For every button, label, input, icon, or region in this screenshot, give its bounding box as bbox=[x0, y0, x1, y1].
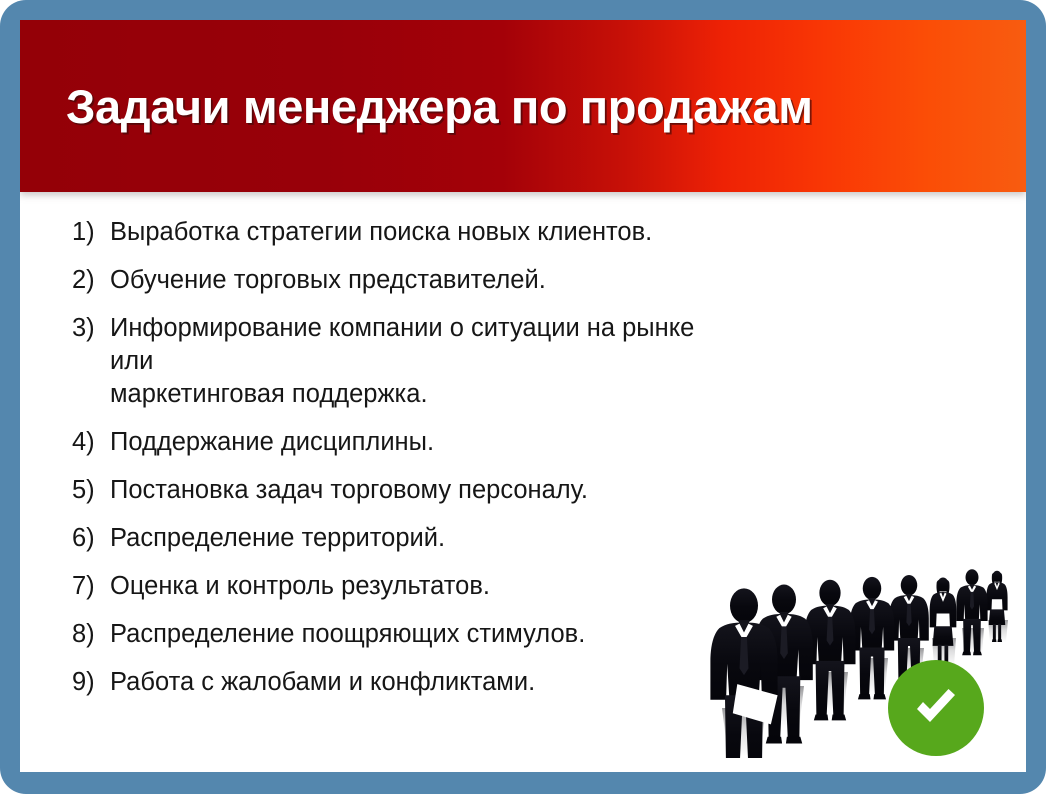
list-item-number: 2) bbox=[72, 264, 110, 297]
slide-card: Задачи менеджера по продажам 1) Выработк… bbox=[20, 20, 1026, 772]
list-item-label: Постановка задач торговому персоналу. bbox=[110, 474, 700, 507]
list-item-number: 5) bbox=[72, 474, 110, 507]
list-item-label-line1: Информирование компании о ситуации на ры… bbox=[110, 312, 700, 378]
slide-frame: Задачи менеджера по продажам 1) Выработк… bbox=[0, 0, 1046, 794]
list-item-number: 1) bbox=[72, 216, 110, 249]
list-item-label: Распределение территорий. bbox=[110, 522, 700, 555]
list-item-number: 7) bbox=[72, 570, 110, 603]
list-item-label: Обучение торговых представителей. bbox=[110, 264, 700, 297]
list-item: 4) Поддержание дисциплины. bbox=[72, 426, 700, 459]
task-list: 1) Выработка стратегии поиска новых клие… bbox=[20, 216, 700, 714]
page-title: Задачи менеджера по продажам bbox=[66, 20, 1006, 192]
list-item: 3) Информирование компании о ситуации на… bbox=[72, 312, 700, 411]
list-item-label: Информирование компании о ситуации на ры… bbox=[110, 312, 700, 411]
list-item: 9) Работа с жалобами и конфликтами. bbox=[72, 666, 700, 699]
check-mark-icon bbox=[905, 677, 967, 739]
list-item-number: 9) bbox=[72, 666, 110, 699]
list-item: 2) Обучение торговых представителей. bbox=[72, 264, 700, 297]
list-item-label: Распределение поощряющих стимулов. bbox=[110, 618, 700, 651]
list-item: 6) Распределение территорий. bbox=[72, 522, 700, 555]
list-item: 8) Распределение поощряющих стимулов. bbox=[72, 618, 700, 651]
list-item: 7) Оценка и контроль результатов. bbox=[72, 570, 700, 603]
list-item: 5) Постановка задач торговому персоналу. bbox=[72, 474, 700, 507]
list-item-number: 8) bbox=[72, 618, 110, 651]
list-item-number: 3) bbox=[72, 312, 110, 345]
list-item-label: Поддержание дисциплины. bbox=[110, 426, 700, 459]
header-band: Задачи менеджера по продажам bbox=[20, 20, 1026, 192]
status-badge bbox=[888, 660, 984, 756]
list-item-label: Работа с жалобами и конфликтами. bbox=[110, 666, 700, 699]
list-item-label-line2: маркетинговая поддержка. bbox=[110, 378, 700, 411]
list-item-number: 6) bbox=[72, 522, 110, 555]
list-item: 1) Выработка стратегии поиска новых клие… bbox=[72, 216, 700, 249]
list-item-label: Оценка и контроль результатов. bbox=[110, 570, 700, 603]
list-item-label: Выработка стратегии поиска новых клиенто… bbox=[110, 216, 700, 249]
list-item-number: 4) bbox=[72, 426, 110, 459]
